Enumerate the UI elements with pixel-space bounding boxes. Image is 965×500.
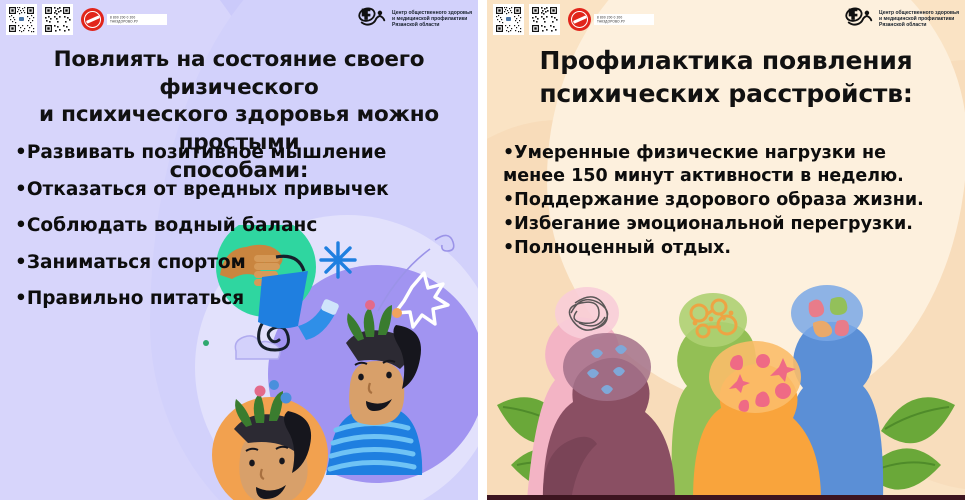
organization-logo: Центр общественного здоровья и медицинск… xyxy=(358,6,472,32)
list-item: •Поддержание здорового образа жизни. xyxy=(503,189,951,212)
list-item: •Избегание эмоциональной перегрузки. xyxy=(503,213,951,236)
poster-left-bullet-list: •Развивать позитивное мышление •Отказать… xyxy=(15,144,389,327)
title-line-2: психических расстройств: xyxy=(539,79,912,108)
hotline-site: ТАКЗДОРОВО.РУ xyxy=(597,20,651,24)
list-item: •Развивать позитивное мышление xyxy=(15,144,389,163)
list-item: •Умеренные физические нагрузки не менее … xyxy=(503,142,951,188)
list-item: •Полноценный отдых. xyxy=(503,237,951,260)
org-line-1: Центр общественного здоровья xyxy=(879,10,959,16)
ground-line xyxy=(487,495,965,500)
org-line-1: Центр общественного здоровья xyxy=(392,10,472,16)
hotline-badge: 8 800 200 0 200 ТАКЗДОРОВО.РУ xyxy=(81,8,167,31)
hotline-text-box: 8 800 200 0 200 ТАКЗДОРОВО.РУ xyxy=(594,14,654,25)
illustration-silhouettes-brains xyxy=(487,255,965,500)
poster-right: 8 800 200 0 200 ТАКЗДОРОВО.РУ Центр обще… xyxy=(487,0,965,500)
qr-code-group xyxy=(493,4,560,35)
title-line-1: Профилактика появления xyxy=(539,46,912,75)
list-item: •Правильно питаться xyxy=(15,290,389,309)
org-line-3: Рязанской области xyxy=(392,22,472,28)
hotline-site: ТАКЗДОРОВО.РУ xyxy=(110,20,164,24)
organization-logo: Центр общественного здоровья и медицинск… xyxy=(845,6,959,32)
poster-right-title: Профилактика появления психических расст… xyxy=(487,44,965,110)
health-center-logo-icon xyxy=(358,6,388,32)
poster-left-header: 8 800 200 0 200 ТАКЗДОРОВО.РУ Центр обще… xyxy=(0,4,478,38)
qr-code-vk[interactable] xyxy=(493,4,524,35)
list-item: •Заниматься спортом xyxy=(15,254,389,273)
title-line-1: Повлиять на состояние своего физического xyxy=(54,47,425,100)
health-center-logo-icon xyxy=(845,6,875,32)
organization-name: Центр общественного здоровья и медицинск… xyxy=(392,10,472,29)
organization-name: Центр общественного здоровья и медицинск… xyxy=(879,10,959,29)
qr-code-telegram[interactable] xyxy=(42,4,73,35)
poster-gutter xyxy=(478,0,487,500)
hotline-badge: 8 800 200 0 200 ТАКЗДОРОВО.РУ xyxy=(568,8,654,31)
qr-code-telegram[interactable] xyxy=(529,4,560,35)
poster-left: 8 800 200 0 200 ТАКЗДОРОВО.РУ Центр обще… xyxy=(0,0,478,500)
qr-code-group xyxy=(6,4,73,35)
poster-right-bullet-list: •Умеренные физические нагрузки не менее … xyxy=(503,142,951,261)
list-item: •Отказаться от вредных привычек xyxy=(15,181,389,200)
org-line-3: Рязанской области xyxy=(879,22,959,28)
no-smoking-icon xyxy=(81,8,104,31)
poster-pair: 8 800 200 0 200 ТАКЗДОРОВО.РУ Центр обще… xyxy=(0,0,965,500)
qr-code-vk[interactable] xyxy=(6,4,37,35)
hotline-text-box: 8 800 200 0 200 ТАКЗДОРОВО.РУ xyxy=(107,14,167,25)
list-item: •Соблюдать водный баланс xyxy=(15,217,389,236)
poster-right-header: 8 800 200 0 200 ТАКЗДОРОВО.РУ Центр обще… xyxy=(487,4,965,38)
no-smoking-icon xyxy=(568,8,591,31)
